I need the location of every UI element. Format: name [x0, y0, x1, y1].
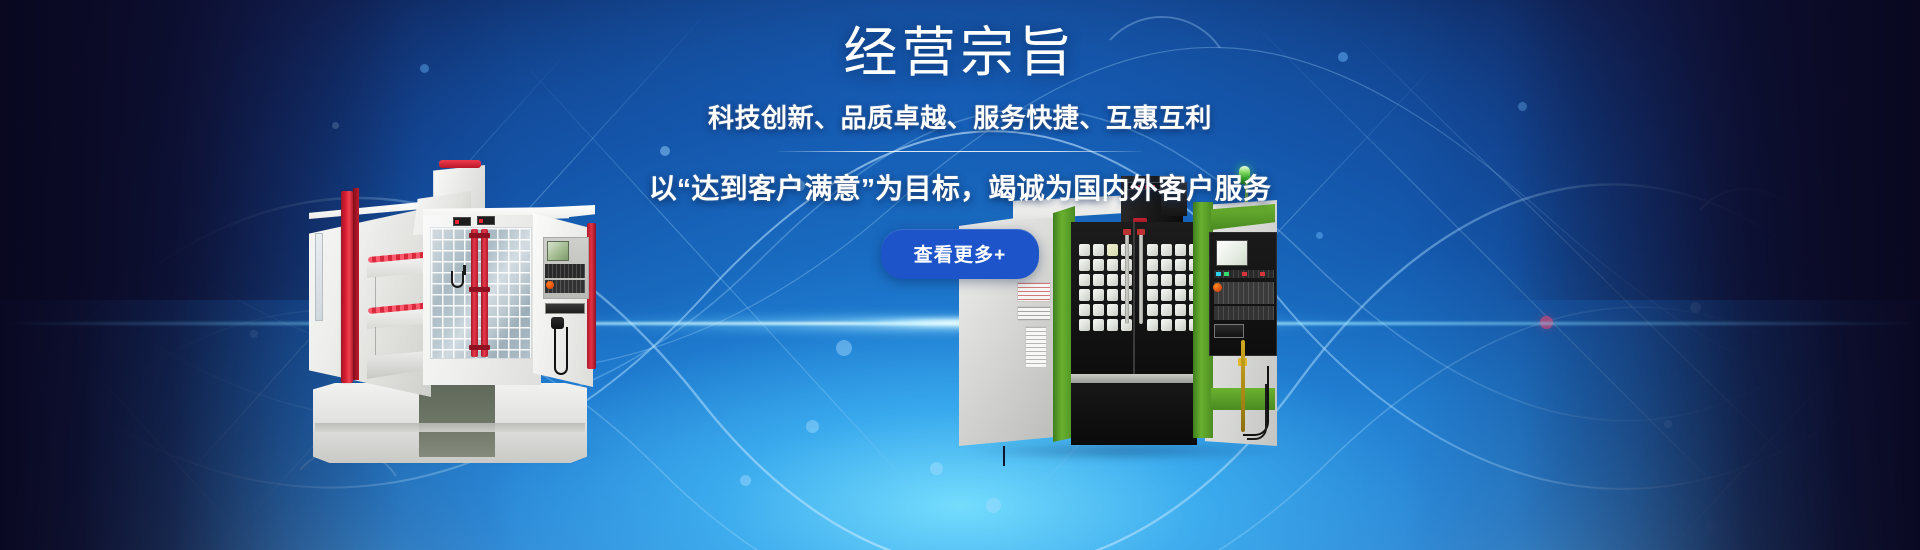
control-panel-keypad [1214, 282, 1274, 304]
pendant-cord [554, 327, 568, 375]
emergency-stop-button [546, 281, 554, 289]
spec-label-decal [1025, 326, 1047, 368]
divider [778, 151, 1142, 152]
emergency-stop-button [1213, 283, 1222, 292]
warning-label-decal [1017, 282, 1051, 302]
view-more-button[interactable]: 查看更多+ [881, 229, 1040, 279]
control-panel-vent [545, 303, 585, 314]
banner-subtitle: 科技创新、品质卓越、服务快捷、互惠互利 [0, 98, 1920, 135]
shelf-bracket [375, 277, 376, 309]
control-panel-keypad-lower [1214, 306, 1274, 320]
door-sill [1071, 374, 1197, 383]
machine-leveling-leg [1003, 446, 1005, 466]
cta-container: 查看更多+ [0, 229, 1920, 279]
warning-label-decal [1017, 306, 1051, 321]
hero-banner: 经营宗旨 科技创新、品质卓越、服务快捷、互惠互利 以“达到客户满意”为目标，竭诚… [0, 0, 1920, 550]
coiled-cable-inner [1247, 384, 1267, 440]
lower-cabinet-dark [1071, 383, 1197, 445]
banner-copy-block: 经营宗旨 科技创新、品质卓越、服务快捷、互惠互利 以“达到客户满意”为目标，竭诚… [0, 24, 1920, 279]
shelf-bracket [375, 327, 376, 355]
banner-tagline: 以“达到客户满意”为目标，竭诚为国内外客户服务 [0, 167, 1920, 207]
page-title: 经营宗旨 [0, 24, 1920, 82]
control-panel-vent [1214, 324, 1244, 338]
machine-base-lip [315, 423, 585, 432]
